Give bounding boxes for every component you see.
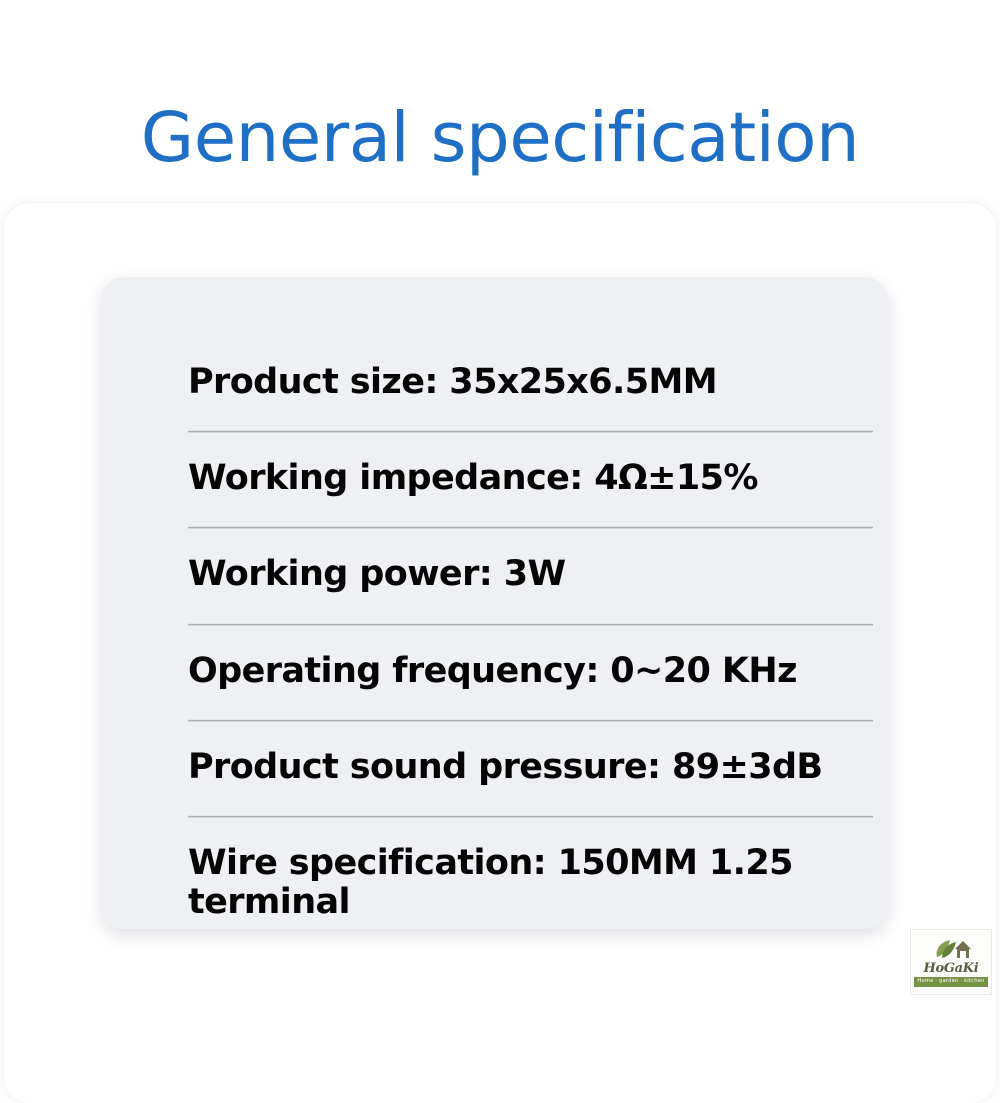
spec-row-text: Operating frequency: 0~20 KHz (188, 626, 833, 719)
spec-row: Wire specification: 150MM 1.25 terminal (148, 818, 833, 929)
brand-wordmark: HoGaKi (924, 962, 979, 975)
spec-row-text: Working impedance: 4Ω±15% (188, 433, 833, 526)
brand-tagline: Home · garden · kitchen (914, 977, 987, 986)
page-title: General specification (141, 104, 860, 173)
spec-row: Working impedance: 4Ω±15% (148, 433, 833, 529)
specification-list: Product size: 35x25x6.5MM Working impeda… (148, 359, 833, 929)
spec-row: Operating frequency: 0~20 KHz (148, 626, 833, 722)
spec-row-text: Product sound pressure: 89±3dB (188, 722, 833, 815)
spec-row-text: Working power: 3W (188, 529, 833, 622)
title-area: General specification (0, 92, 1000, 184)
spec-row: Product sound pressure: 89±3dB (148, 722, 833, 818)
spec-row: Product size: 35x25x6.5MM (148, 359, 833, 433)
leaf-house-icon (929, 937, 973, 961)
specification-card: Product size: 35x25x6.5MM Working impeda… (101, 277, 888, 929)
brand-watermark: HoGaKi Home · garden · kitchen (910, 929, 992, 995)
spec-row-text: Wire specification: 150MM 1.25 terminal (188, 818, 833, 929)
spec-row: Working power: 3W (148, 529, 833, 625)
spec-row-text: Product size: 35x25x6.5MM (188, 359, 833, 430)
